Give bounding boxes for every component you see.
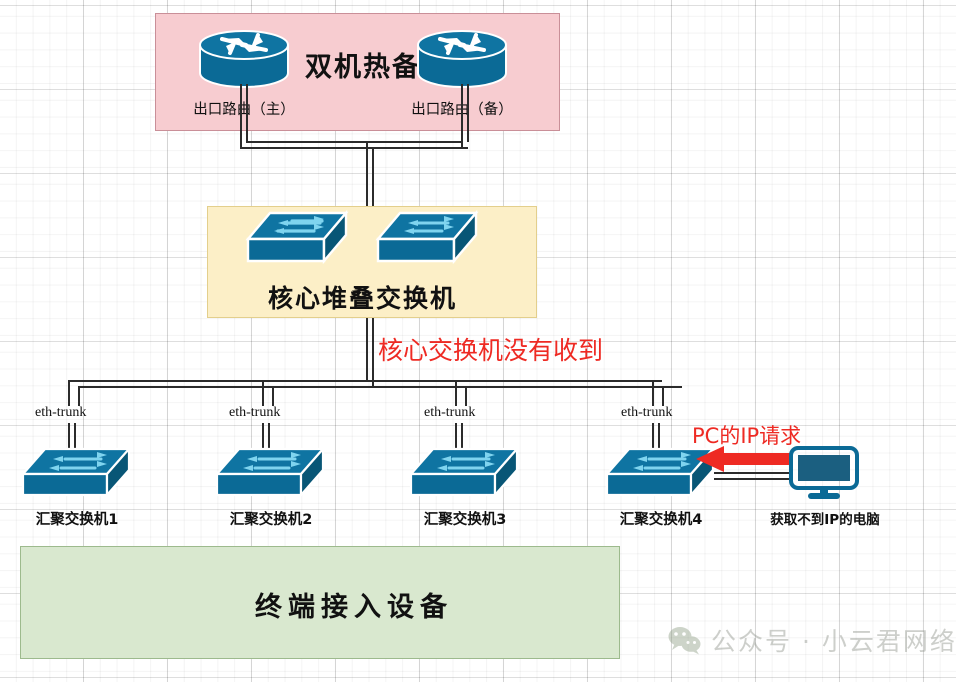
router-icon	[196, 28, 292, 90]
switch-icon	[17, 445, 135, 503]
router-icon	[414, 28, 510, 90]
network-diagram-canvas: 双机热备 出口路由（主） 出口路由（备）	[0, 0, 956, 682]
switch-icon	[244, 209, 350, 271]
monitor-icon	[789, 446, 859, 500]
link-bus-agg4	[662, 386, 664, 406]
pc-label: 获取不到IP的电脑	[752, 508, 898, 528]
switch-icon	[374, 209, 480, 271]
trunk-label-agg2: eth-trunk	[229, 405, 280, 421]
link-bus-agg1	[78, 386, 80, 406]
trunk-label-agg4: eth-trunk	[621, 405, 672, 421]
agg-switch-1-label: 汇聚交换机1	[12, 508, 142, 529]
access-bus-line	[78, 386, 682, 388]
watermark-text: 公众号 · 小云君网络	[711, 622, 956, 658]
agg-switch-4-label: 汇聚交换机4	[596, 508, 726, 529]
link-core-to-access-bus	[366, 318, 368, 380]
zone-access-title: 终端接入设备	[255, 585, 453, 624]
trunk-label-agg1: eth-trunk	[35, 405, 86, 421]
zone-ha-title: 双机热备	[305, 45, 421, 84]
link-bus-agg1	[68, 380, 70, 406]
link-bus-agg3	[465, 386, 467, 406]
link-router1-core	[240, 84, 242, 148]
access-bus-line	[68, 380, 662, 382]
link-router-bus	[240, 147, 468, 149]
link-bus-agg2	[272, 386, 274, 406]
link-pc-to-agg4	[714, 478, 790, 480]
watermark: 公众号 · 小云君网络	[668, 622, 956, 658]
link-bus-agg3	[455, 380, 457, 406]
link-bus-agg2	[262, 380, 264, 406]
agg-switch-2-label: 汇聚交换机2	[206, 508, 336, 529]
link-router2-core	[467, 84, 469, 142]
annotation-pc-ip-request: PC的IP请求	[692, 420, 801, 450]
zone-core-title: 核心堆叠交换机	[268, 279, 457, 315]
switch-icon	[211, 445, 329, 503]
link-bus-agg4	[652, 380, 654, 406]
link-bus-to-core	[366, 141, 368, 207]
link-router2-core	[461, 84, 463, 148]
agg-switch-3-label: 汇聚交换机3	[400, 508, 530, 529]
link-router1-core	[246, 84, 248, 142]
trunk-label-agg3: eth-trunk	[424, 405, 475, 421]
switch-icon	[405, 445, 523, 503]
router-1-label: 出口路由（主）	[178, 98, 310, 119]
link-bus-to-core	[372, 147, 374, 207]
link-router-bus	[246, 141, 462, 143]
wechat-icon	[668, 625, 702, 655]
link-core-to-access-bus	[372, 318, 374, 386]
annotation-core-not-received: 核心交换机没有收到	[378, 331, 603, 367]
